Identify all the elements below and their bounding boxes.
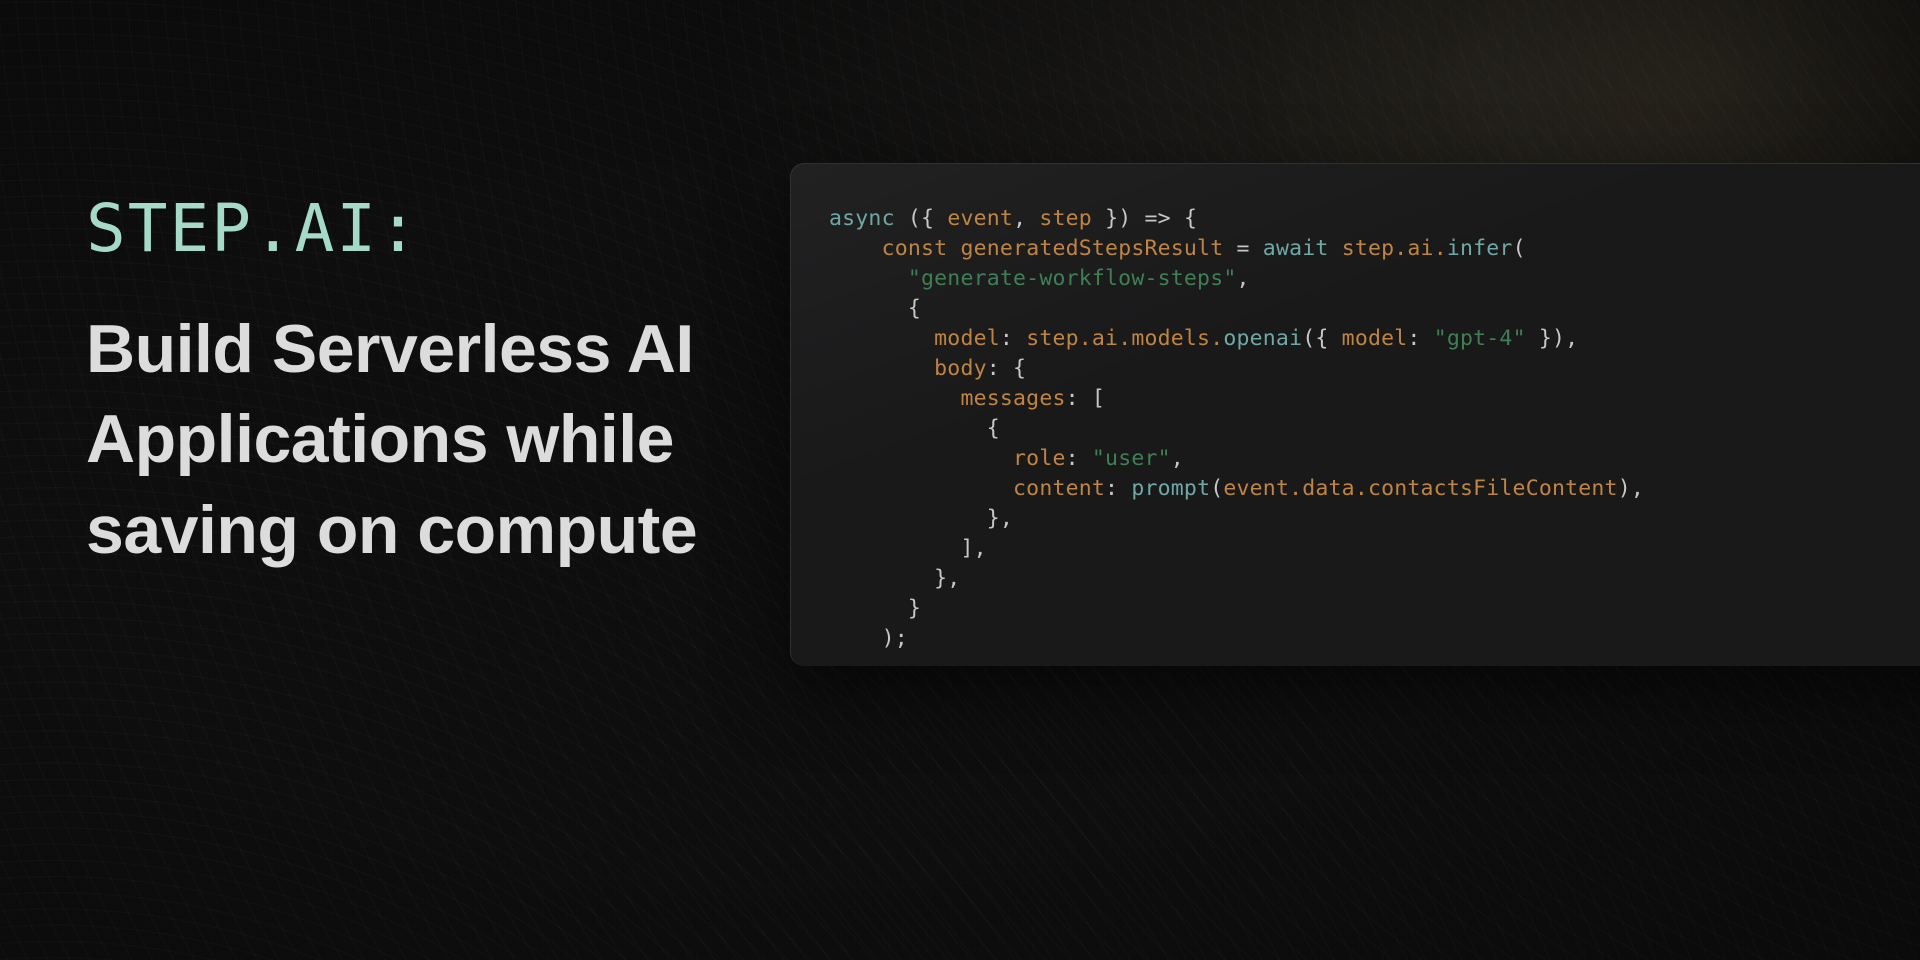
headline-line-1: Build Serverless AI (86, 304, 786, 394)
code-token: event.data.contactsFileContent (1223, 476, 1617, 501)
code-token (829, 236, 882, 261)
code-token: : [ (1066, 386, 1105, 411)
code-token: ], (829, 536, 987, 561)
code-token: : (1000, 326, 1026, 351)
code-block: async ({ event, step }) => { const gener… (829, 204, 1644, 654)
code-token: prompt (1131, 476, 1210, 501)
code-token: const (882, 236, 948, 261)
code-token: role (1013, 446, 1066, 471)
code-line: "generate-workflow-steps", (829, 264, 1644, 294)
code-token: , (1236, 266, 1249, 291)
code-line: { (829, 294, 1644, 324)
code-token: }, (829, 506, 1013, 531)
code-token: async (829, 206, 895, 231)
code-line: model: step.ai.models.openai({ model: "g… (829, 324, 1644, 354)
code-line: { (829, 414, 1644, 444)
code-token: body (934, 356, 987, 381)
code-token (829, 476, 1013, 501)
code-token: model (1342, 326, 1408, 351)
code-line: const generatedStepsResult = await step.… (829, 234, 1644, 264)
code-token (895, 206, 908, 231)
code-token (829, 326, 934, 351)
code-token (829, 386, 960, 411)
code-token (829, 356, 934, 381)
code-token: } (829, 596, 921, 621)
code-line: } (829, 594, 1644, 624)
code-token: ( (1513, 236, 1526, 261)
code-token: messages (960, 386, 1065, 411)
code-token: ( (1210, 476, 1223, 501)
code-token: content (1013, 476, 1105, 501)
code-line: ], (829, 534, 1644, 564)
code-token: ({ (1302, 326, 1341, 351)
code-token: infer (1447, 236, 1513, 261)
headline-line-2: Applications while (86, 394, 786, 484)
code-token: step.ai. (1342, 236, 1447, 261)
code-token: ); (829, 626, 908, 651)
code-token (829, 446, 1013, 471)
code-line: body: { (829, 354, 1644, 384)
code-token (947, 236, 960, 261)
code-token: : (1105, 476, 1131, 501)
code-token: = (1223, 236, 1262, 261)
code-token: { (829, 416, 1000, 441)
code-token: "user" (1092, 446, 1171, 471)
code-token (829, 266, 908, 291)
code-token (1329, 236, 1342, 261)
eyebrow-label: STEP.AI: (86, 196, 786, 262)
code-line: content: prompt(event.data.contactsFileC… (829, 474, 1644, 504)
code-line: }, (829, 564, 1644, 594)
code-line: messages: [ (829, 384, 1644, 414)
code-token: "generate-workflow-steps" (908, 266, 1237, 291)
code-token: , (1013, 206, 1039, 231)
code-token: event (947, 206, 1013, 231)
code-token: : (1407, 326, 1433, 351)
code-token: , (1171, 446, 1184, 471)
code-token: step (1039, 206, 1092, 231)
hero-banner: STEP.AI: Build Serverless AI Application… (0, 0, 1920, 960)
code-line: async ({ event, step }) => { (829, 204, 1644, 234)
code-token: ({ (908, 206, 947, 231)
code-token: : { (987, 356, 1026, 381)
code-token: { (829, 296, 921, 321)
code-token: step.ai.models. (1026, 326, 1223, 351)
code-token: : (1066, 446, 1092, 471)
code-line: ); (829, 624, 1644, 654)
page-title: Build Serverless AI Applications while s… (86, 304, 786, 575)
code-sample-panel: async ({ event, step }) => { const gener… (790, 163, 1920, 666)
code-token: }) => { (1092, 206, 1197, 231)
code-token: "gpt-4" (1434, 326, 1526, 351)
code-token: generatedStepsResult (960, 236, 1223, 261)
code-token: model (934, 326, 1000, 351)
code-token: }, (829, 566, 960, 591)
code-token: ), (1618, 476, 1644, 501)
code-token: await (1263, 236, 1329, 261)
code-token: }), (1526, 326, 1579, 351)
code-line: role: "user", (829, 444, 1644, 474)
code-token: openai (1223, 326, 1302, 351)
headline-line-3: saving on compute (86, 485, 786, 575)
hero-text-block: STEP.AI: Build Serverless AI Application… (86, 196, 786, 575)
code-line: }, (829, 504, 1644, 534)
